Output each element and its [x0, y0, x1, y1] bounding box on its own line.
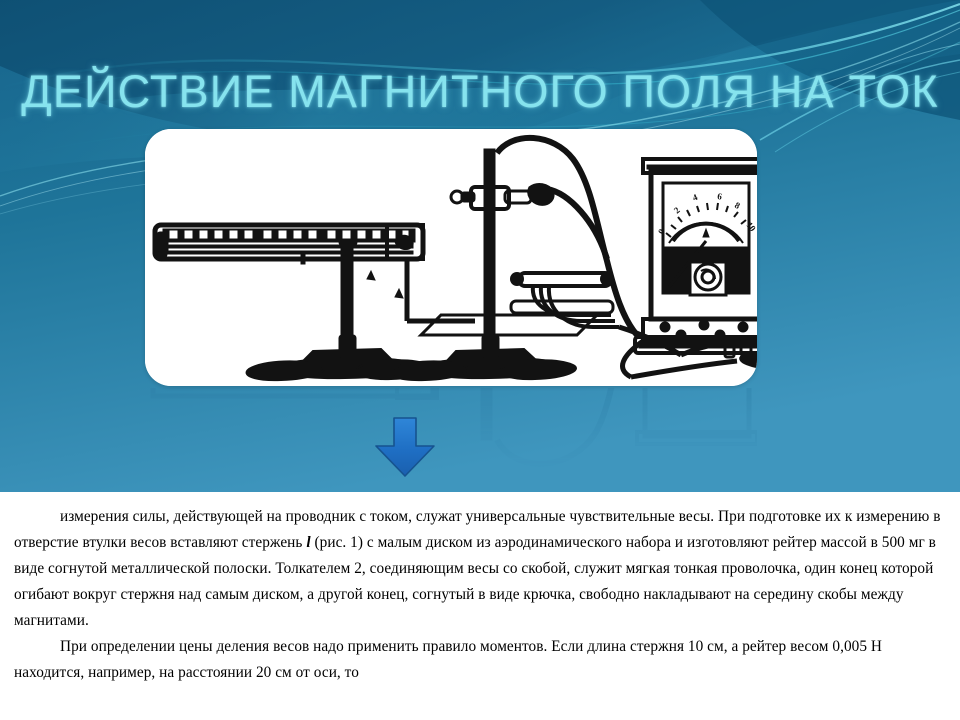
paragraph-2: При определении цены деления весов надо … — [14, 634, 946, 686]
page-title: ДЕЙСТВИЕ МАГНИТНОГО ПОЛЯ НА ТОК — [0, 66, 960, 118]
balance-beam — [155, 225, 423, 264]
paragraph-1: измерения силы, действующей на проводник… — [14, 504, 946, 634]
presentation-slide: ДЕЙСТВИЕ МАГНИТНОГО ПОЛЯ НА ТОК — [0, 0, 960, 720]
figure-image-card: 0 2 4 6 8 10 — [145, 129, 757, 386]
balance-column — [341, 249, 353, 341]
lab-apparatus-drawing: 0 2 4 6 8 10 — [145, 129, 757, 386]
down-arrow-shape — [372, 416, 438, 478]
stand-rod — [484, 149, 495, 341]
body-text-block: измерения силы, действующей на проводник… — [0, 492, 960, 720]
figure-reflection — [145, 388, 757, 480]
figure-reflection-drawing — [145, 388, 757, 480]
paragraph-2-text: При определении цены деления весов надо … — [14, 638, 882, 681]
down-arrow-icon — [372, 416, 438, 478]
